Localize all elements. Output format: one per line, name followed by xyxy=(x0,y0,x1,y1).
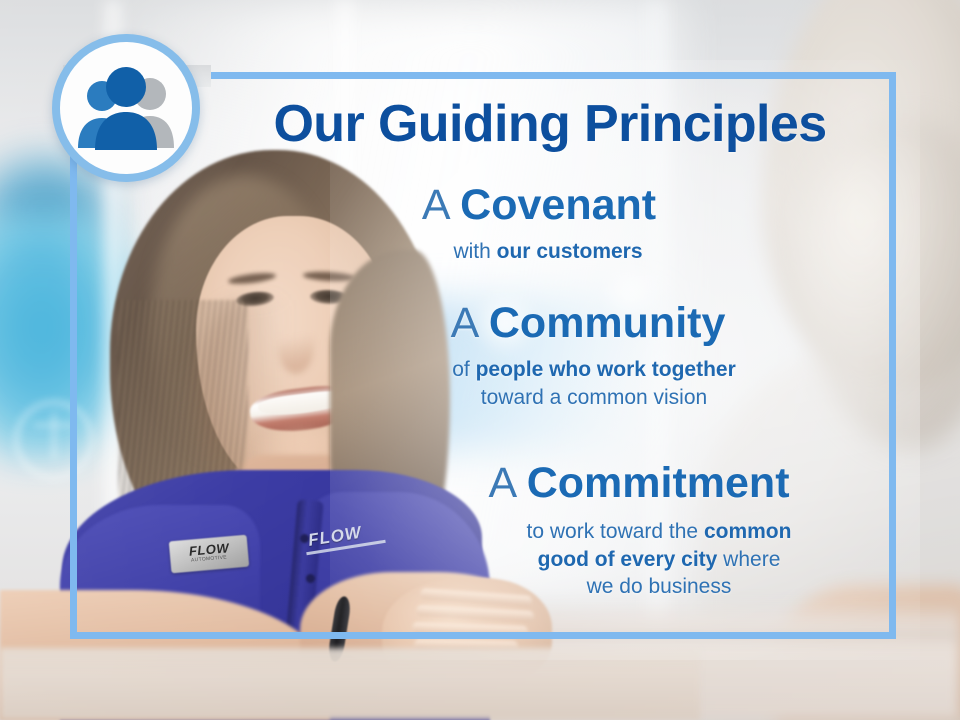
subline-segment-bold: good of every city xyxy=(538,548,718,571)
principle-subline: we do business xyxy=(438,573,880,601)
principle-article: A xyxy=(488,459,514,507)
subline-segment: of xyxy=(452,358,475,381)
principle-commitment: A Commitment to work toward the common g… xyxy=(120,462,880,601)
photo-tabletop xyxy=(0,648,700,720)
principle-headline: A Community xyxy=(120,302,880,346)
principle-article: A xyxy=(422,181,448,229)
principle-subline: toward a common vision xyxy=(308,384,880,412)
text-column: Our Guiding Principles A Covenant with o… xyxy=(120,76,880,636)
principle-word: Commitment xyxy=(527,459,790,507)
subline-segment: with xyxy=(453,240,496,263)
principle-subline: with our customers xyxy=(120,238,880,266)
principle-community: A Community of people who work together … xyxy=(120,302,880,411)
principle-covenant: A Covenant with our customers xyxy=(120,184,880,266)
subline-segment: where xyxy=(717,548,780,571)
principle-subline-group: of people who work together toward a com… xyxy=(120,356,880,411)
principle-subline: to work toward the common xyxy=(438,518,880,546)
subline-segment-bold: our customers xyxy=(497,240,643,263)
principle-subline: of people who work together xyxy=(308,356,880,384)
blurred-vw-logo-icon xyxy=(14,400,94,480)
subline-segment-bold: common xyxy=(704,520,792,543)
guiding-principles-graphic: FLOW AUTOMOTIVE FLOW xyxy=(0,0,960,720)
page-title: Our Guiding Principles xyxy=(220,98,880,150)
principle-headline: A Covenant xyxy=(120,184,880,228)
subline-segment-bold: people who work together xyxy=(476,358,736,381)
subline-segment: to work toward the xyxy=(527,520,704,543)
principle-word: Covenant xyxy=(460,181,656,229)
principle-article: A xyxy=(451,299,477,347)
principle-subline-group: to work toward the common good of every … xyxy=(120,518,880,601)
principle-word: Community xyxy=(489,299,726,347)
principle-subline: good of every city where xyxy=(438,546,880,574)
principle-headline: A Commitment xyxy=(120,462,880,506)
subline-segment: toward a common vision xyxy=(481,386,707,409)
subline-segment: we do business xyxy=(587,575,732,598)
